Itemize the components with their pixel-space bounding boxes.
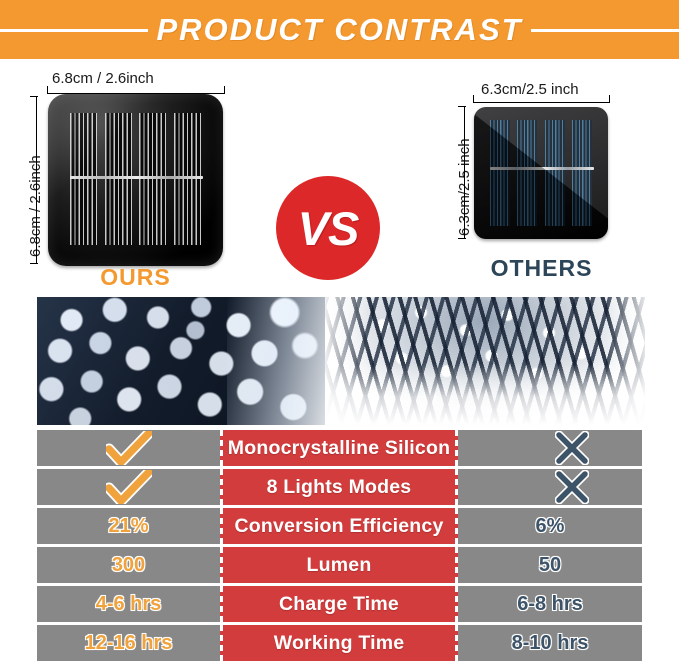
others-width-tick-left bbox=[473, 95, 474, 103]
ours-value-cell: 12-16 hrs bbox=[37, 625, 220, 661]
others-solar-panel-image bbox=[474, 107, 608, 239]
ours-label: OURS bbox=[48, 264, 223, 291]
theirs-value-text: 6% bbox=[536, 515, 565, 538]
ours-height-tick-bottom bbox=[30, 263, 38, 264]
solar-cell-strip bbox=[545, 120, 565, 226]
header-banner: PRODUCT CONTRAST bbox=[0, 0, 679, 59]
others-height-tick-top bbox=[458, 106, 466, 107]
ours-value-text: 21% bbox=[108, 515, 148, 538]
others-led-photo bbox=[325, 297, 645, 425]
comparison-table: Monocrystalline Silicon8 Lights Modes21%… bbox=[37, 430, 645, 661]
ours-panel-busbar bbox=[70, 176, 203, 179]
spec-label-cell: Lumen bbox=[220, 547, 458, 583]
spec-label-text: Conversion Efficiency bbox=[234, 515, 443, 538]
ours-panel-cells bbox=[70, 113, 201, 245]
solar-cell-strip bbox=[174, 113, 201, 245]
ours-width-tick-left bbox=[47, 86, 48, 94]
vs-badge-text: VS bbox=[298, 205, 359, 252]
solar-cell-strip bbox=[572, 120, 592, 226]
ours-height-dimension-line bbox=[36, 96, 37, 264]
table-row: 300Lumen50 bbox=[37, 547, 645, 586]
check-icon bbox=[106, 431, 152, 465]
table-row: 4-6 hrsCharge Time6-8 hrs bbox=[37, 586, 645, 625]
ours-value-cell bbox=[37, 469, 220, 505]
cross-icon bbox=[555, 470, 589, 504]
solar-cell-strip bbox=[70, 113, 97, 245]
panel-comparison-section: 6.8cm / 2.6inch 6.8cm / 2.6inch OURS VS … bbox=[0, 59, 679, 289]
ours-value-text: 12-16 hrs bbox=[85, 632, 173, 655]
spec-label-text: Charge Time bbox=[279, 593, 399, 616]
ours-value-cell: 300 bbox=[37, 547, 220, 583]
solar-cell-strip bbox=[105, 113, 132, 245]
led-photo-strip bbox=[37, 297, 645, 425]
banner-rule-right bbox=[531, 29, 679, 32]
spec-label-cell: Monocrystalline Silicon bbox=[220, 430, 458, 466]
solar-cell-strip bbox=[490, 120, 510, 226]
solar-cell-strip bbox=[139, 113, 166, 245]
spec-label-cell: Working Time bbox=[220, 625, 458, 661]
check-icon bbox=[106, 470, 152, 504]
ours-width-tick-right bbox=[224, 86, 225, 94]
theirs-value-cell: 50 bbox=[458, 547, 642, 583]
ours-value-cell bbox=[37, 430, 220, 466]
spec-label-cell: 8 Lights Modes bbox=[220, 469, 458, 505]
spec-label-text: Monocrystalline Silicon bbox=[228, 437, 450, 460]
theirs-value-cell bbox=[458, 469, 642, 505]
others-width-tick-right bbox=[609, 95, 610, 103]
theirs-value-text: 6-8 hrs bbox=[517, 593, 583, 616]
ours-height-tick-top bbox=[30, 96, 38, 97]
vs-badge: VS bbox=[276, 176, 380, 280]
others-height-tick-bottom bbox=[458, 238, 466, 239]
others-panel-cells bbox=[490, 120, 592, 226]
table-row: 21%Conversion Efficiency6% bbox=[37, 508, 645, 547]
theirs-value-cell: 6-8 hrs bbox=[458, 586, 642, 622]
page-title: PRODUCT CONTRAST bbox=[152, 12, 526, 48]
table-row: 12-16 hrsWorking Time8-10 hrs bbox=[37, 625, 645, 661]
ours-width-dimension-label: 6.8cm / 2.6inch bbox=[52, 70, 154, 87]
others-panel-busbar bbox=[490, 167, 594, 170]
cross-icon bbox=[555, 431, 589, 465]
spec-label-text: Lumen bbox=[307, 554, 372, 577]
ours-value-cell: 21% bbox=[37, 508, 220, 544]
theirs-value-text: 8-10 hrs bbox=[512, 632, 589, 655]
ours-value-cell: 4-6 hrs bbox=[37, 586, 220, 622]
ours-value-text: 300 bbox=[112, 554, 145, 577]
theirs-value-text: 50 bbox=[539, 554, 561, 577]
ours-value-text: 4-6 hrs bbox=[96, 593, 162, 616]
theirs-value-cell: 6% bbox=[458, 508, 642, 544]
ours-solar-panel-image bbox=[48, 94, 223, 266]
spec-label-cell: Conversion Efficiency bbox=[220, 508, 458, 544]
banner-rule-left bbox=[0, 29, 148, 32]
others-width-dimension-line bbox=[473, 102, 610, 103]
theirs-value-cell: 8-10 hrs bbox=[458, 625, 642, 661]
spec-label-text: Working Time bbox=[274, 632, 405, 655]
others-label: OTHERS bbox=[464, 255, 619, 282]
others-height-dimension-line bbox=[464, 106, 465, 239]
ours-led-photo bbox=[37, 297, 325, 425]
table-row: 8 Lights Modes bbox=[37, 469, 645, 508]
spec-label-cell: Charge Time bbox=[220, 586, 458, 622]
theirs-value-cell bbox=[458, 430, 642, 466]
spec-label-text: 8 Lights Modes bbox=[267, 476, 412, 499]
solar-cell-strip bbox=[517, 120, 537, 226]
table-row: Monocrystalline Silicon bbox=[37, 430, 645, 469]
others-width-dimension-label: 6.3cm/2.5 inch bbox=[481, 81, 579, 98]
